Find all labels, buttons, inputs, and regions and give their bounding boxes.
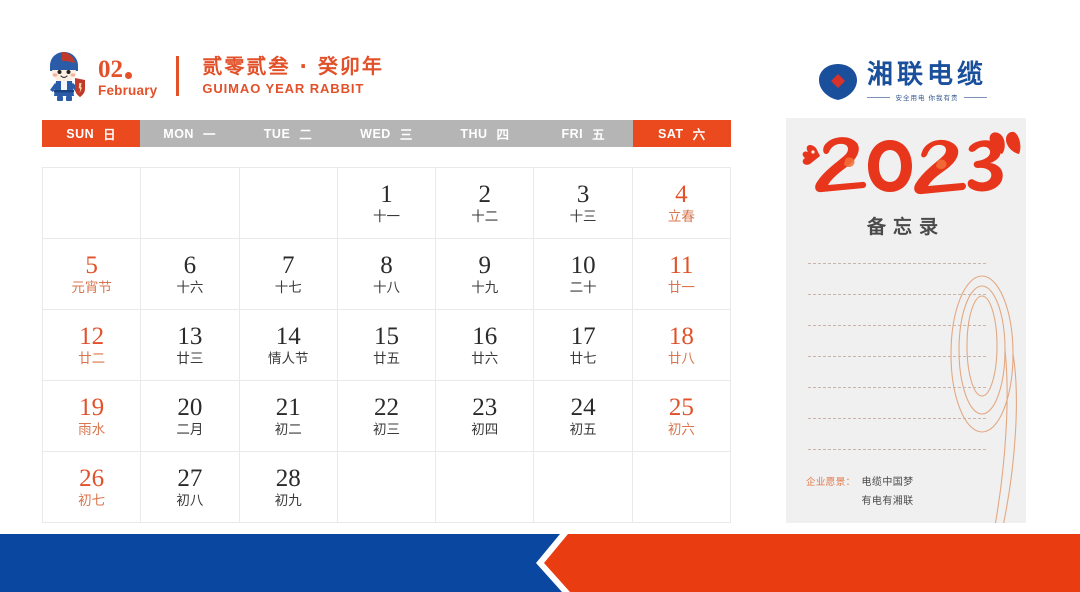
day-number: 17 xyxy=(571,324,596,349)
weekday-tue: TUE 二 xyxy=(239,120,337,147)
weekday-thu-cn: 四 xyxy=(497,124,510,143)
lunar-label: 廿五 xyxy=(373,353,400,367)
calendar-cell-day-18[interactable]: 18廿八 xyxy=(633,310,731,381)
bottom-banner xyxy=(0,534,1080,592)
lunar-label: 十八 xyxy=(373,282,400,296)
lunar-label: 二月 xyxy=(176,424,203,438)
weekday-wed-cn: 三 xyxy=(400,124,413,143)
weekday-wed-en: WED xyxy=(360,127,391,141)
weekday-sat: SAT 六 xyxy=(633,120,731,147)
lunar-label: 二十 xyxy=(570,282,597,296)
weekday-thu: THU 四 xyxy=(436,120,534,147)
calendar-cell-day-26[interactable]: 26初七 xyxy=(43,452,141,523)
lunar-label: 廿六 xyxy=(471,353,498,367)
day-number: 14 xyxy=(276,324,301,349)
month-dot-icon xyxy=(125,72,132,79)
weekday-mon: MON 一 xyxy=(140,120,238,147)
month-number: 02 xyxy=(98,57,157,82)
logo-text-column: 湘联电缆 安全用电 你我有责 xyxy=(867,62,987,102)
lunar-label: 初三 xyxy=(373,424,400,438)
lunar-label: 初二 xyxy=(275,424,302,438)
day-number: 25 xyxy=(669,395,694,420)
lunar-label: 廿七 xyxy=(570,353,597,367)
day-number: 13 xyxy=(177,324,202,349)
company-vision: 企业愿景： 电缆中国梦 有电有湘联 xyxy=(806,473,1016,507)
day-number: 2 xyxy=(479,182,492,207)
memo-title: 备忘录 xyxy=(786,212,1026,239)
month-number-text: 02 xyxy=(98,57,123,82)
day-number: 26 xyxy=(79,466,104,491)
weekday-wed: WED 三 xyxy=(337,120,435,147)
safety-mascot-icon xyxy=(42,50,88,102)
calendar-cell-empty xyxy=(43,168,141,239)
calendar-cell-day-2[interactable]: 2十二 xyxy=(436,168,534,239)
calendar-cell-day-22[interactable]: 22初三 xyxy=(338,381,436,452)
company-slogan: 安全用电 你我有责 xyxy=(895,92,958,102)
calendar-cell-day-27[interactable]: 27初八 xyxy=(141,452,239,523)
weekday-thu-en: THU xyxy=(460,127,487,141)
calendar-grid: 1十一2十二3十三4立春5元宵节6十六7十七8十八9十九10二十11廿一12廿二… xyxy=(42,167,731,523)
weekday-sat-en: SAT xyxy=(658,127,684,141)
calendar-cell-day-9[interactable]: 9十九 xyxy=(436,239,534,310)
day-number: 22 xyxy=(374,395,399,420)
day-number: 27 xyxy=(177,466,202,491)
calendar-cell-day-15[interactable]: 15廿五 xyxy=(338,310,436,381)
lunar-label: 初五 xyxy=(570,424,597,438)
calendar-cell-empty xyxy=(240,168,338,239)
lunar-label: 十三 xyxy=(570,211,597,225)
day-number: 11 xyxy=(669,253,693,278)
day-number: 9 xyxy=(479,253,492,278)
vision-line-1: 电缆中国梦 xyxy=(862,473,914,488)
calendar-cell-day-28[interactable]: 28初九 xyxy=(240,452,338,523)
day-number: 8 xyxy=(380,253,393,278)
day-number: 19 xyxy=(79,395,104,420)
day-number: 20 xyxy=(177,395,202,420)
banner-right-red xyxy=(544,534,1080,592)
weekday-sun: SUN 日 xyxy=(42,120,140,147)
lunar-label: 初四 xyxy=(471,424,498,438)
calendar-cell-empty xyxy=(141,168,239,239)
lunar-label: 元宵节 xyxy=(71,282,112,296)
calendar-cell-day-21[interactable]: 21初二 xyxy=(240,381,338,452)
calendar-cell-day-13[interactable]: 13廿三 xyxy=(141,310,239,381)
lunar-label: 初七 xyxy=(78,495,105,509)
lunar-label: 初八 xyxy=(176,495,203,509)
calendar-cell-day-7[interactable]: 7十七 xyxy=(240,239,338,310)
weekday-mon-cn: 一 xyxy=(203,124,216,143)
calendar-cell-day-14[interactable]: 14情人节 xyxy=(240,310,338,381)
lunar-label: 雨水 xyxy=(78,424,105,438)
slogan-rule-left xyxy=(867,97,890,98)
day-number: 21 xyxy=(276,395,301,420)
calendar-cell-day-24[interactable]: 24初五 xyxy=(534,381,632,452)
lunar-label: 初六 xyxy=(668,424,695,438)
calendar-cell-day-3[interactable]: 3十三 xyxy=(534,168,632,239)
calendar-cell-day-19[interactable]: 19雨水 xyxy=(43,381,141,452)
calendar-cell-day-5[interactable]: 5元宵节 xyxy=(43,239,141,310)
lunar-label: 初九 xyxy=(275,495,302,509)
weekday-fri: FRI 五 xyxy=(534,120,632,147)
calendar-cell-day-8[interactable]: 8十八 xyxy=(338,239,436,310)
day-number: 7 xyxy=(282,253,295,278)
day-number: 28 xyxy=(276,466,301,491)
weekday-tue-en: TUE xyxy=(264,127,291,141)
xianglian-shield-diamond-logo-icon xyxy=(818,63,858,101)
day-number: 24 xyxy=(571,395,596,420)
calendar-page: 02 February 贰零贰叁 · 癸卯年 GUIMAO YEAR RABBI… xyxy=(0,0,1080,592)
logo-slogan-row: 安全用电 你我有责 xyxy=(867,92,987,102)
year-label-cn: 贰零贰叁 · 癸卯年 xyxy=(202,55,384,78)
day-number: 1 xyxy=(380,182,393,207)
lunar-label: 十二 xyxy=(471,211,498,225)
day-number: 5 xyxy=(85,253,98,278)
calendar-cell-day-12[interactable]: 12廿二 xyxy=(43,310,141,381)
banner-left-blue xyxy=(0,534,562,592)
header-divider xyxy=(176,56,179,96)
weekday-fri-en: FRI xyxy=(562,127,584,141)
lunar-label: 十一 xyxy=(373,211,400,225)
month-block: 02 February xyxy=(98,54,157,98)
calendar-cell-empty xyxy=(436,452,534,523)
calendar-cell-day-20[interactable]: 20二月 xyxy=(141,381,239,452)
lunar-label: 十六 xyxy=(176,282,203,296)
day-number: 6 xyxy=(184,253,197,278)
lunar-label: 立春 xyxy=(668,211,695,225)
weekday-tue-cn: 二 xyxy=(299,124,312,143)
weekday-sun-en: SUN xyxy=(66,127,94,141)
calendar-cell-day-11[interactable]: 11廿一 xyxy=(633,239,731,310)
weekday-mon-en: MON xyxy=(163,127,194,141)
company-logo: 湘联电缆 安全用电 你我有责 xyxy=(818,56,1008,108)
weekday-sat-cn: 六 xyxy=(693,124,706,143)
lunar-label: 廿二 xyxy=(78,353,105,367)
lunar-label: 廿三 xyxy=(176,353,203,367)
calendar-cell-empty xyxy=(633,452,731,523)
calendar-header: 02 February 贰零贰叁 · 癸卯年 GUIMAO YEAR RABBI… xyxy=(42,50,384,102)
calendar-cell-day-16[interactable]: 16廿六 xyxy=(436,310,534,381)
company-name: 湘联电缆 xyxy=(867,62,987,88)
2023-rabbit-calligraphy-icon xyxy=(786,128,1026,202)
lunar-label: 廿八 xyxy=(668,353,695,367)
lunar-label: 十七 xyxy=(275,282,302,296)
day-number: 23 xyxy=(472,395,497,420)
calendar-cell-day-17[interactable]: 17廿七 xyxy=(534,310,632,381)
vision-line-2: 有电有湘联 xyxy=(862,492,914,507)
year-label-en: GUIMAO YEAR RABBIT xyxy=(202,82,384,97)
vision-text: 电缆中国梦 有电有湘联 xyxy=(862,473,914,507)
calendar-cell-day-23[interactable]: 23初四 xyxy=(436,381,534,452)
calendar-cell-day-1[interactable]: 1十一 xyxy=(338,168,436,239)
month-name: February xyxy=(98,84,157,98)
vision-label: 企业愿景： xyxy=(806,473,856,488)
calendar-cell-day-10[interactable]: 10二十 xyxy=(534,239,632,310)
lunar-label: 情人节 xyxy=(268,353,309,367)
weekday-header-row: SUN 日 MON 一 TUE 二 WED 三 THU 四 FRI 五 SAT … xyxy=(42,120,731,147)
slogan-rule-right xyxy=(964,97,987,98)
weekday-sun-cn: 日 xyxy=(103,124,116,143)
calendar-cell-empty xyxy=(534,452,632,523)
memo-panel: 备忘录 企业愿景： 电缆中国梦 有电有湘联 xyxy=(786,118,1026,523)
lunar-label: 廿一 xyxy=(668,282,695,296)
calendar-cell-day-4[interactable]: 4立春 xyxy=(633,168,731,239)
lunar-label: 十九 xyxy=(471,282,498,296)
day-number: 16 xyxy=(472,324,497,349)
day-number: 4 xyxy=(675,182,688,207)
calendar-cell-empty xyxy=(338,452,436,523)
day-number: 18 xyxy=(669,324,694,349)
day-number: 10 xyxy=(571,253,596,278)
day-number: 15 xyxy=(374,324,399,349)
year-block: 贰零贰叁 · 癸卯年 GUIMAO YEAR RABBIT xyxy=(202,55,384,97)
calendar-cell-day-25[interactable]: 25初六 xyxy=(633,381,731,452)
day-number: 12 xyxy=(79,324,104,349)
calendar-cell-day-6[interactable]: 6十六 xyxy=(141,239,239,310)
day-number: 3 xyxy=(577,182,590,207)
weekday-fri-cn: 五 xyxy=(592,124,605,143)
